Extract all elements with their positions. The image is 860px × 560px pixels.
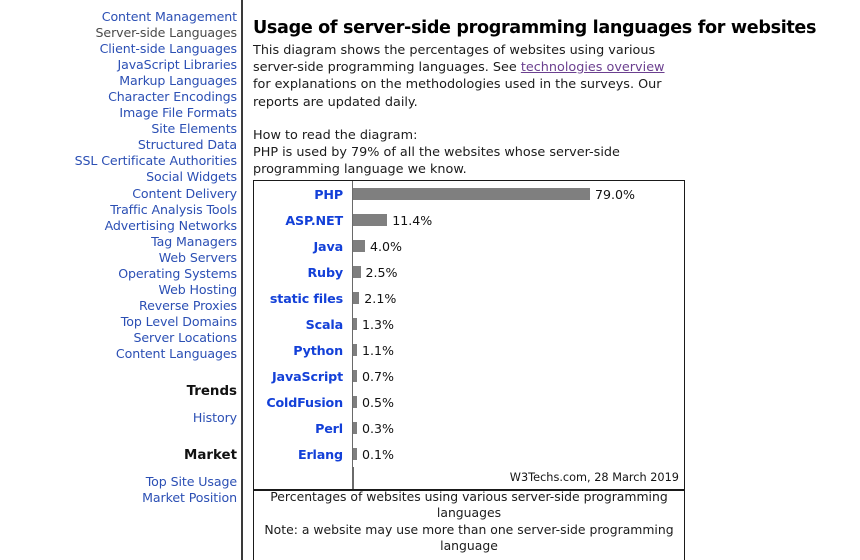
chart-bar-track: 1.1%	[352, 337, 684, 363]
chart-bar-track: 0.1%	[352, 441, 684, 467]
technologies-overview-link[interactable]: technologies overview	[521, 60, 665, 75]
chart-category-label[interactable]: JavaScript	[254, 369, 352, 384]
chart-row: static files2.1%	[254, 285, 684, 311]
sidebar-item-content-delivery[interactable]: Content Delivery	[0, 186, 241, 202]
sidebar-primary-list: Content ManagementServer-side LanguagesC…	[0, 9, 241, 362]
chart-row: PHP79.0%	[254, 181, 684, 207]
sidebar-item-top-level-domains[interactable]: Top Level Domains	[0, 314, 241, 330]
chart-bar	[353, 422, 357, 434]
sidebar-item-advertising-networks[interactable]: Advertising Networks	[0, 218, 241, 234]
chart-row: JavaScript0.7%	[254, 363, 684, 389]
chart-category-label[interactable]: ASP.NET	[254, 213, 352, 228]
sidebar-item-server-side-languages: Server-side Languages	[0, 25, 241, 41]
chart-bar-track: 11.4%	[352, 207, 684, 233]
intro-paragraph-1-part-b: for explanations on the methodologies us…	[253, 77, 662, 109]
chart-row: Erlang0.1%	[254, 441, 684, 467]
chart-category-label[interactable]: Java	[254, 239, 352, 254]
chart-value-label: 0.3%	[362, 421, 394, 436]
sidebar-item-traffic-analysis-tools[interactable]: Traffic Analysis Tools	[0, 202, 241, 218]
chart-row: Ruby2.5%	[254, 259, 684, 285]
chart-bar	[353, 292, 359, 304]
how-to-read-body: PHP is used by 79% of all the websites w…	[253, 144, 681, 178]
sidebar-item-site-elements[interactable]: Site Elements	[0, 121, 241, 137]
sidebar-section-heading-market: Market	[0, 448, 241, 464]
sidebar-item-content-languages[interactable]: Content Languages	[0, 346, 241, 362]
bar-chart: PHP79.0%ASP.NET11.4%Java4.0%Ruby2.5%stat…	[253, 180, 685, 491]
chart-bar	[353, 188, 590, 200]
sidebar-item-web-hosting[interactable]: Web Hosting	[0, 282, 241, 298]
sidebar-item-tag-managers[interactable]: Tag Managers	[0, 234, 241, 250]
sidebar-item-reverse-proxies[interactable]: Reverse Proxies	[0, 298, 241, 314]
chart-row: Scala1.3%	[254, 311, 684, 337]
sidebar-item-web-servers[interactable]: Web Servers	[0, 250, 241, 266]
chart-row: Python1.1%	[254, 337, 684, 363]
chart-bar-track: 4.0%	[352, 233, 684, 259]
chart-category-label[interactable]: PHP	[254, 187, 352, 202]
sidebar-item-top-site-usage[interactable]: Top Site Usage	[0, 474, 241, 490]
chart-caption: Percentages of websites using various se…	[253, 484, 685, 560]
sidebar-item-character-encodings[interactable]: Character Encodings	[0, 89, 241, 105]
sidebar-item-image-file-formats[interactable]: Image File Formats	[0, 105, 241, 121]
chart-bar-track: 2.1%	[352, 285, 684, 311]
sidebar-item-ssl-certificate-authorities[interactable]: SSL Certificate Authorities	[0, 153, 241, 169]
chart-row: ASP.NET11.4%	[254, 207, 684, 233]
sidebar-item-market-position[interactable]: Market Position	[0, 490, 241, 506]
chart-bar	[353, 448, 357, 460]
chart-plot-area: PHP79.0%ASP.NET11.4%Java4.0%Ruby2.5%stat…	[254, 181, 684, 467]
chart-bar	[353, 396, 357, 408]
sidebar-item-history[interactable]: History	[0, 410, 241, 426]
chart-row: ColdFusion0.5%	[254, 389, 684, 415]
chart-bar	[353, 318, 357, 330]
sidebar-nav: Content ManagementServer-side LanguagesC…	[0, 0, 243, 560]
chart-value-label: 2.1%	[364, 291, 396, 306]
chart-category-label[interactable]: Ruby	[254, 265, 352, 280]
sidebar-item-social-widgets[interactable]: Social Widgets	[0, 169, 241, 185]
chart-bar	[353, 344, 357, 356]
page-title: Usage of server-side programming languag…	[253, 18, 853, 38]
page-root: Content ManagementServer-side LanguagesC…	[0, 0, 860, 560]
chart-caption-title: Percentages of websites using various se…	[262, 489, 676, 522]
main-content: Usage of server-side programming languag…	[245, 0, 860, 560]
chart-bar	[353, 370, 357, 382]
chart-category-label[interactable]: Perl	[254, 421, 352, 436]
chart-value-label: 1.1%	[362, 343, 394, 358]
sidebar-sections: TrendsHistoryMarketTop Site UsageMarket …	[0, 384, 241, 506]
sidebar-item-operating-systems[interactable]: Operating Systems	[0, 266, 241, 282]
sidebar-item-structured-data[interactable]: Structured Data	[0, 137, 241, 153]
chart-value-label: 0.7%	[362, 369, 394, 384]
chart-bar	[353, 240, 365, 252]
chart-bar-track: 2.5%	[352, 259, 684, 285]
chart-category-label[interactable]: Erlang	[254, 447, 352, 462]
sidebar-item-markup-languages[interactable]: Markup Languages	[0, 73, 241, 89]
chart-bar-track: 0.7%	[352, 363, 684, 389]
chart-caption-note: Note: a website may use more than one se…	[262, 522, 676, 555]
chart-value-label: 4.0%	[370, 239, 402, 254]
chart-category-label[interactable]: Python	[254, 343, 352, 358]
chart-value-label: 2.5%	[366, 265, 398, 280]
chart-value-label: 0.1%	[362, 447, 394, 462]
chart-bar	[353, 266, 361, 278]
chart-source-text: W3Techs.com, 28 March 2019	[510, 471, 679, 484]
chart-bar-track: 79.0%	[352, 181, 684, 207]
chart-value-label: 0.5%	[362, 395, 394, 410]
sidebar-item-javascript-libraries[interactable]: JavaScript Libraries	[0, 57, 241, 73]
chart-bar-track: 0.3%	[352, 415, 684, 441]
chart-category-label[interactable]: static files	[254, 291, 352, 306]
chart-value-label: 11.4%	[392, 213, 432, 228]
chart-value-label: 79.0%	[595, 187, 635, 202]
sidebar-item-client-side-languages[interactable]: Client-side Languages	[0, 41, 241, 57]
chart-bar-track: 0.5%	[352, 389, 684, 415]
sidebar-item-server-locations[interactable]: Server Locations	[0, 330, 241, 346]
chart-value-label: 1.3%	[362, 317, 394, 332]
intro-text-block: This diagram shows the percentages of we…	[253, 42, 681, 178]
chart-bar-track: 1.3%	[352, 311, 684, 337]
chart-row: Perl0.3%	[254, 415, 684, 441]
chart-bar	[353, 214, 387, 226]
chart-row: Java4.0%	[254, 233, 684, 259]
sidebar-item-content-management[interactable]: Content Management	[0, 9, 241, 25]
chart-category-label[interactable]: ColdFusion	[254, 395, 352, 410]
how-to-read-heading: How to read the diagram:	[253, 127, 681, 144]
intro-paragraph-1: This diagram shows the percentages of we…	[253, 42, 681, 111]
sidebar-section-heading-trends: Trends	[0, 384, 241, 400]
chart-category-label[interactable]: Scala	[254, 317, 352, 332]
